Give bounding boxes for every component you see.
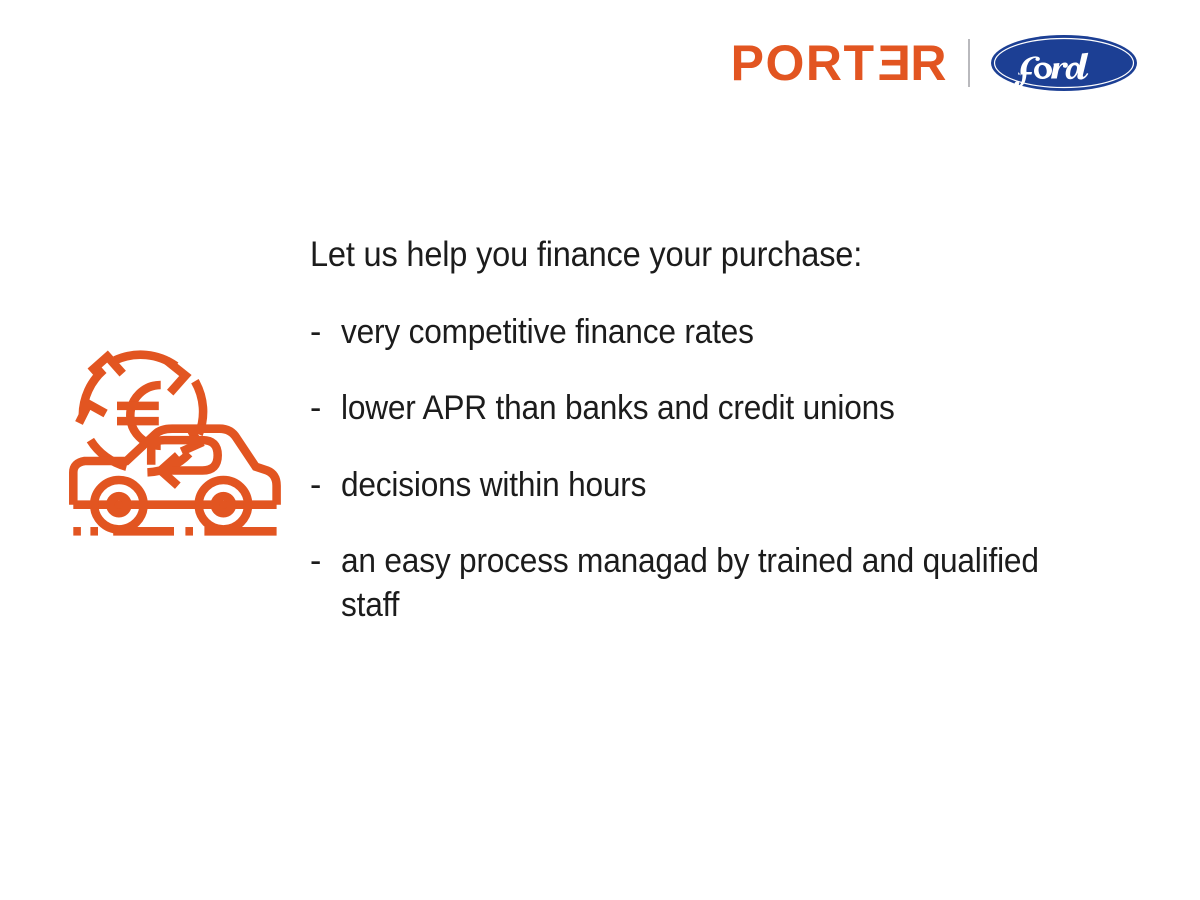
list-item-label: very competitive finance rates <box>341 311 754 355</box>
porter-logo[interactable]: PORTER <box>731 38 948 88</box>
lead-heading: Let us help you finance your purchase: <box>310 236 1063 275</box>
slide-root: { "brand": { "porter_word_start": "PORT"… <box>0 0 1200 900</box>
car-euro-finance-icon <box>60 328 288 556</box>
brand-divider <box>968 39 970 87</box>
cycle-arrowhead-top-right <box>166 360 185 392</box>
list-item: - lower APR than banks and credit unions <box>310 387 1120 431</box>
main-content: Let us help you finance your purchase: -… <box>60 236 1120 627</box>
list-item-label: lower APR than banks and credit unions <box>341 387 895 431</box>
list-item: - very competitive finance rates <box>310 311 1120 355</box>
list-item-label: an easy process managad by trained and q… <box>341 540 1065 627</box>
cycle-arrowhead-bottom-left <box>79 404 106 423</box>
copy-block: Let us help you finance your purchase: -… <box>310 236 1120 627</box>
bullet-dash-icon: - <box>310 311 341 355</box>
finance-icon-container <box>60 236 310 556</box>
porter-logo-text-start: PORT <box>731 38 876 88</box>
bullet-dash-icon: - <box>310 387 341 431</box>
list-item: - an easy process managad by trained and… <box>310 540 1120 627</box>
list-item: - decisions within hours <box>310 464 1120 508</box>
porter-logo-reversed-e: E <box>876 38 911 88</box>
bullet-dash-icon: - <box>310 540 341 584</box>
bullet-dash-icon: - <box>310 464 341 508</box>
porter-logo-text-end: R <box>910 38 948 88</box>
benefit-list: - very competitive finance rates - lower… <box>310 311 1120 628</box>
list-item-label: decisions within hours <box>341 464 646 508</box>
ford-logo[interactable] <box>990 34 1138 92</box>
brand-bar: PORTER <box>731 34 1138 92</box>
